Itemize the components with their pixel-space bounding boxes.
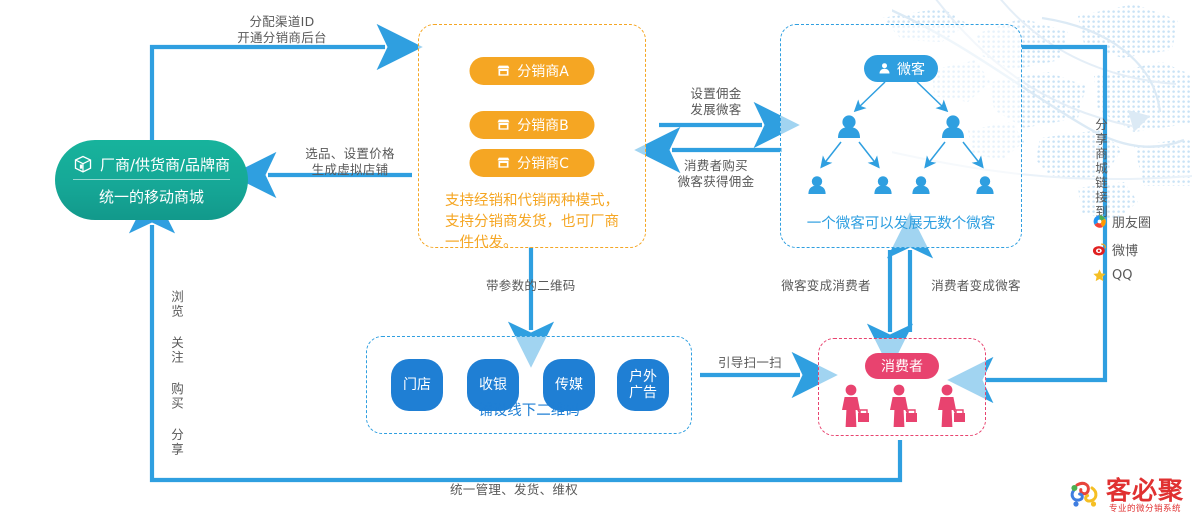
shop-icon (495, 117, 511, 133)
label-consumer-buy: 消费者购买 微客获得佣金 (655, 158, 777, 190)
brand-tagline: 专业的微分销系统 (1109, 505, 1181, 514)
distributor-pill-c[interactable]: 分销商C (470, 149, 595, 177)
label-guide-scan: 引导扫一扫 (700, 355, 800, 371)
shop-icon (495, 155, 511, 171)
vendor-title-row: 厂商/供货商/品牌商 (73, 154, 230, 180)
offline-qr-panel: 门店 收银 传媒 户外 广告 铺设线下二维码 (366, 336, 692, 434)
share-target-weibo[interactable]: 微博 (1092, 240, 1138, 259)
label-share-mall-link: 分享商城链接到 (1092, 118, 1109, 220)
label-select-products: 选品、设置价格 生成虚拟店铺 (276, 146, 424, 178)
share-target-qq-label: QQ (1112, 268, 1132, 283)
label-browse-follow-buy-share: 浏览 关注 购买 分享 (168, 290, 185, 457)
label-weike-to-consumer: 微客变成消费者 (768, 278, 884, 294)
offline-caption: 铺设线下二维码 (367, 399, 691, 420)
vendor-title: 厂商/供货商/品牌商 (100, 154, 230, 175)
consumer-badge[interactable]: 消费者 (865, 353, 939, 379)
brand-name: 客必聚 (1106, 478, 1184, 503)
distributor-pill-a-label: 分销商A (517, 61, 569, 81)
brand-logo: 客必聚 专业的微分销系统 (1068, 478, 1184, 514)
shopper-with-basket-icon (837, 383, 871, 429)
package-box-icon (73, 154, 93, 174)
label-assign-channel: 分配渠道ID 开通分销商后台 (172, 14, 392, 46)
brand-text: 客必聚 专业的微分销系统 (1106, 478, 1184, 514)
label-set-commission: 设置佣金 发展微客 (655, 86, 777, 118)
shopper-with-basket-icon (885, 383, 919, 429)
weike-panel: 微客 (780, 24, 1022, 248)
label-unified-manage: 统一管理、发货、维权 (450, 482, 650, 498)
vendor-subtitle: 统一的移动商城 (99, 182, 204, 207)
share-target-qq[interactable]: QQ (1092, 268, 1132, 283)
distributor-pill-b-label: 分销商B (517, 115, 569, 135)
consumer-figures (819, 383, 985, 429)
weibo-icon (1092, 242, 1107, 257)
label-param-qrcode: 带参数的二维码 (486, 278, 616, 294)
vendor-card[interactable]: 厂商/供货商/品牌商 统一的移动商城 (55, 140, 248, 220)
share-target-moments-label: 朋友圈 (1112, 212, 1151, 231)
label-consumer-to-weike: 消费者变成微客 (918, 278, 1034, 294)
shopper-with-basket-icon (933, 383, 967, 429)
distributor-description: 支持经销和代销两种模式， 支持分销商发货，也可厂商 一件代发。 (445, 191, 629, 254)
distributor-pill-a[interactable]: 分销商A (470, 57, 595, 85)
shop-icon (495, 63, 511, 79)
distributor-panel: 分销商A 分销商B 分销商C 支持经销和代销两种模式， 支持分销商发货，也可厂商… (418, 24, 646, 248)
share-target-moments[interactable]: 朋友圈 (1092, 212, 1151, 231)
wechat-moments-icon (1092, 214, 1107, 229)
kebiju-mark-icon (1068, 479, 1102, 511)
consumer-panel: 消费者 (818, 338, 986, 436)
share-target-weibo-label: 微博 (1112, 240, 1138, 259)
diagram-canvas: 厂商/供货商/品牌商 统一的移动商城 分销商A 分销商B 分销商C (0, 0, 1192, 517)
distributor-pill-c-label: 分销商C (517, 153, 569, 173)
qq-star-icon (1092, 268, 1107, 283)
weike-caption: 一个微客可以发展无数个微客 (781, 212, 1021, 233)
distributor-pill-b[interactable]: 分销商B (470, 111, 595, 139)
